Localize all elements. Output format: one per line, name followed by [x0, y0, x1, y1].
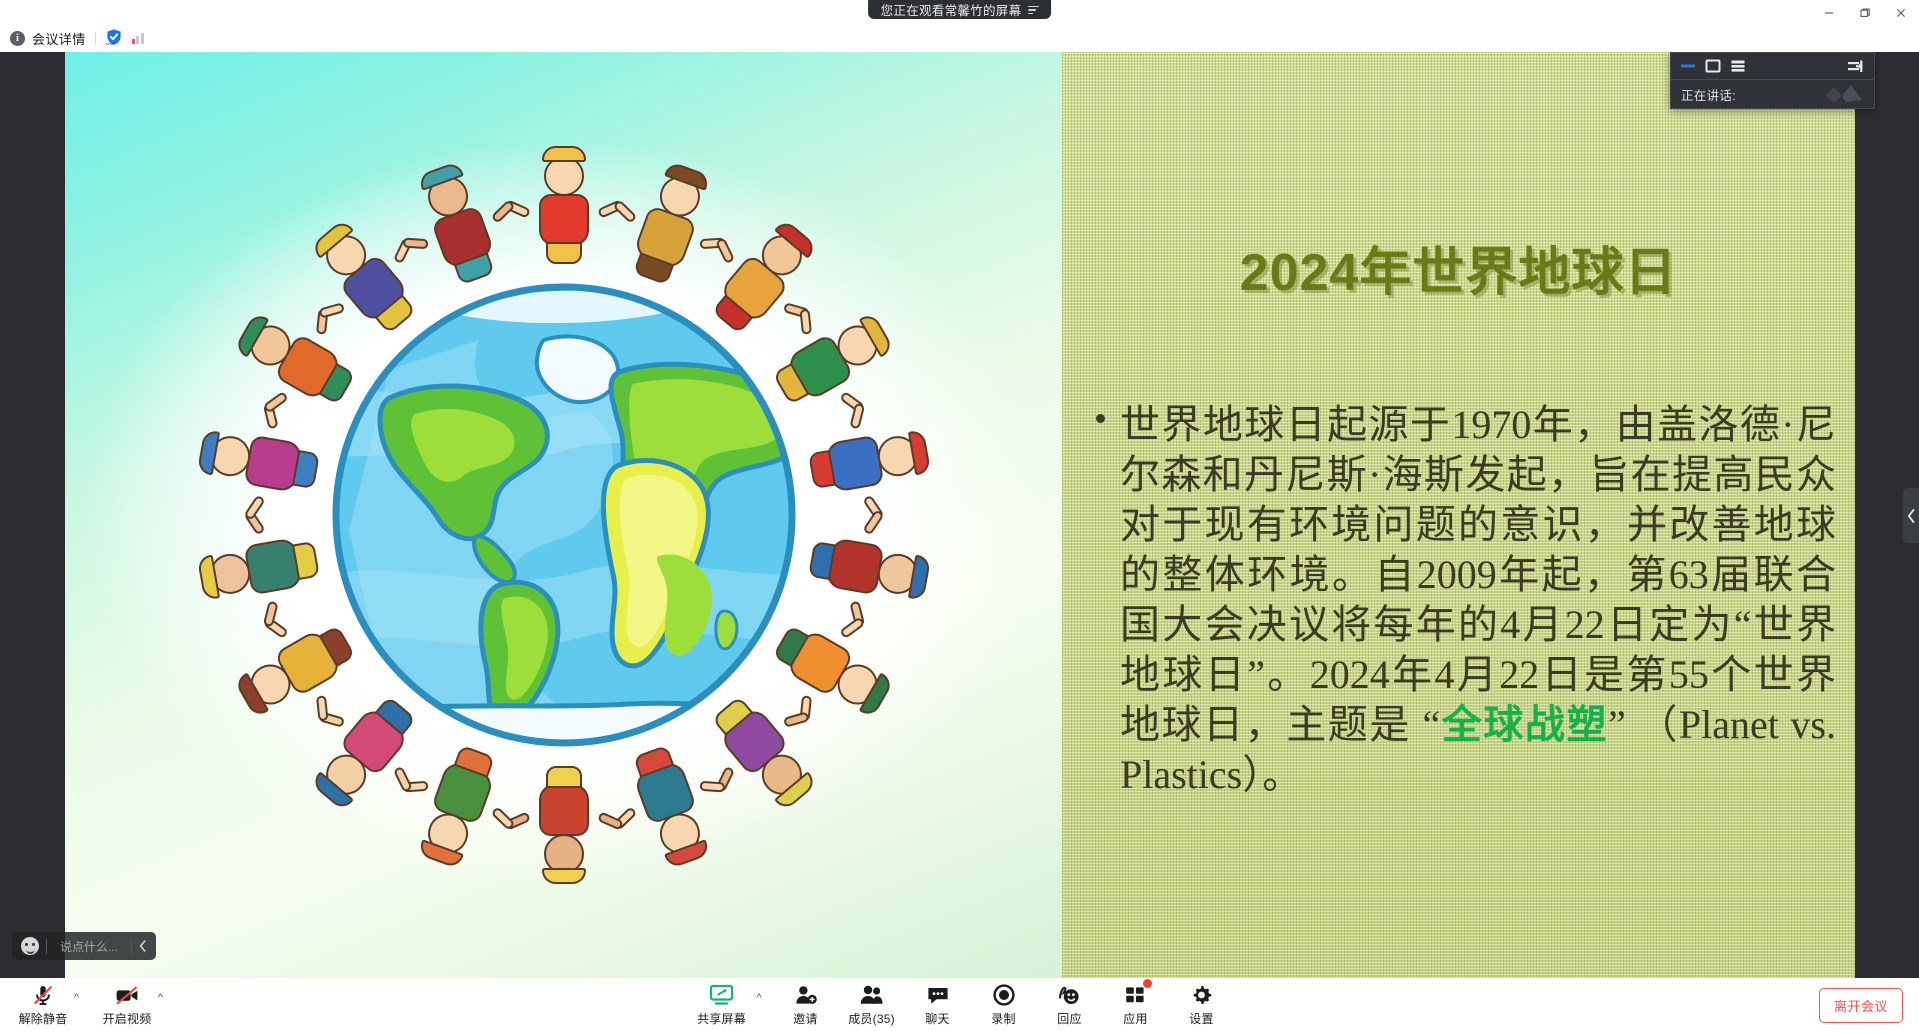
video-button[interactable]: 开启视频 — [94, 981, 160, 1029]
chat-button[interactable]: 聊天 — [905, 981, 971, 1029]
speaker-avatar-placeholder — [1822, 82, 1866, 107]
child-figure — [201, 516, 326, 620]
record-label: 录制 — [991, 1010, 1015, 1027]
share-screen-group: 共享屏幕 ^ — [685, 981, 759, 1029]
share-options-caret[interactable]: ^ — [756, 993, 761, 1004]
restore-button[interactable] — [1847, 0, 1883, 25]
reactions-icon — [1057, 984, 1082, 1007]
share-screen-icon — [709, 984, 734, 1007]
invite-person-icon — [794, 984, 818, 1007]
participants-label: 成员(35) — [848, 1010, 895, 1027]
video-label: 开启视频 — [103, 1010, 152, 1027]
child-figure — [801, 410, 926, 514]
signature-squiggle-icon: 〰 — [106, 39, 113, 50]
gear-icon — [1190, 984, 1213, 1007]
apps-button[interactable]: 应用 — [1103, 981, 1169, 1029]
apps-label: 应用 — [1123, 1010, 1147, 1027]
banner-menu-icon[interactable] — [1028, 5, 1039, 15]
meeting-details-label: 会议详情 — [32, 29, 86, 48]
title-bar: 您正在观看常馨竹的屏幕 — [0, 0, 1919, 25]
quick-chat-bar[interactable]: 说点什么... — [12, 932, 156, 960]
meeting-details-button[interactable]: i 会议详情 — [10, 29, 86, 48]
chat-collapse-icon[interactable] — [132, 932, 154, 960]
speaking-label: 正在讲话: — [1681, 85, 1736, 104]
slide-title: 2024年世界地球日 — [1062, 230, 1855, 305]
shared-screen-content[interactable]: 2024年世界地球日 世界地球日起源于1970年，由盖洛德·尼尔森和丹尼斯·海斯… — [65, 52, 1855, 978]
record-circle-icon — [992, 984, 1016, 1007]
meeting-toolbar: 解除静音 ^ 开启视频 ^ — [0, 978, 1919, 1031]
slide-body: 世界地球日起源于1970年，由盖洛德·尼尔森和丹尼斯·海斯发起，旨在提高民众对于… — [1088, 400, 1836, 800]
speaker-panel-toolbar — [1671, 53, 1874, 80]
reactions-button[interactable]: 回应 — [1037, 981, 1103, 1029]
mute-options-caret[interactable]: ^ — [74, 993, 79, 1004]
mute-group: 解除静音 ^ — [10, 981, 76, 1029]
globe-illustration — [329, 280, 799, 750]
screen-share-banner[interactable]: 您正在观看常馨竹的屏幕 — [868, 0, 1052, 19]
chat-bubble-icon — [926, 984, 950, 1007]
record-button[interactable]: 录制 — [971, 981, 1037, 1029]
maximize-icon[interactable] — [1705, 59, 1721, 73]
zoom-meeting-window: 您正在观看常馨竹的屏幕 i 会议详情 — [0, 0, 1919, 1031]
reactions-label: 回应 — [1057, 1010, 1081, 1027]
video-options-caret[interactable]: ^ — [158, 993, 163, 1004]
presentation-slide: 2024年世界地球日 世界地球日起源于1970年，由盖洛德·尼尔森和丹尼斯·海斯… — [1062, 52, 1855, 978]
list-view-icon[interactable] — [1730, 59, 1746, 73]
sidebar-collapse-handle[interactable] — [1903, 488, 1919, 543]
toolbar-left-group: 解除静音 ^ 开启视频 ^ — [0, 981, 174, 1029]
emoji-icon[interactable] — [21, 937, 39, 955]
minimize-icon[interactable] — [1680, 59, 1696, 73]
speaking-status-row: 正在讲话: — [1671, 80, 1874, 109]
child-figure — [201, 410, 326, 514]
microphone-muted-icon — [31, 984, 55, 1007]
participants-button[interactable]: 成员(35) — [839, 981, 905, 1029]
meeting-stage: 2024年世界地球日 世界地球日起源于1970年，由盖洛德·尼尔森和丹尼斯·海斯… — [0, 52, 1919, 978]
minimize-button[interactable] — [1811, 0, 1847, 25]
child-figure — [521, 154, 607, 266]
mute-label: 解除静音 — [19, 1010, 68, 1027]
settings-label: 设置 — [1189, 1010, 1213, 1027]
child-figure — [801, 516, 926, 620]
header-divider — [95, 32, 96, 45]
apps-grid-icon — [1124, 984, 1147, 1007]
info-icon: i — [10, 31, 25, 46]
bullet-point-icon — [1096, 414, 1105, 423]
meeting-header: i 会议详情 〰 — [0, 25, 1919, 52]
camera-muted-icon — [114, 984, 140, 1007]
settings-button[interactable]: 设置 — [1169, 981, 1235, 1029]
video-group: 开启视频 ^ — [94, 981, 160, 1029]
mute-button[interactable]: 解除静音 — [10, 981, 76, 1029]
network-signal-icon[interactable] — [132, 32, 144, 45]
share-screen-label: 共享屏幕 — [697, 1010, 746, 1027]
leave-meeting-button[interactable]: 离开会议 — [1819, 988, 1903, 1023]
child-figure — [521, 764, 607, 876]
toolbar-right-group: 离开会议 — [1819, 988, 1903, 1023]
share-screen-button[interactable]: 共享屏幕 — [685, 981, 759, 1029]
slide-body-part1: 世界地球日起源于1970年，由盖洛德·尼尔森和丹尼斯·海斯发起，旨在提高民众对于… — [1120, 402, 1836, 747]
earth-day-illustration — [65, 52, 1062, 978]
participants-icon — [859, 984, 885, 1007]
chat-label: 聊天 — [925, 1010, 949, 1027]
active-speaker-panel[interactable]: 正在讲话: — [1670, 52, 1875, 109]
invite-label: 邀请 — [793, 1010, 817, 1027]
invite-button[interactable]: 邀请 — [773, 981, 839, 1029]
window-controls — [1811, 0, 1919, 25]
toolbar-center-group: 共享屏幕 ^ 邀请 — [685, 981, 1235, 1029]
chat-input-placeholder[interactable]: 说点什么... — [47, 938, 131, 955]
slide-body-highlight: 全球战塑 — [1440, 702, 1608, 747]
encryption-shield-icon[interactable]: 〰 — [105, 28, 123, 50]
close-button[interactable] — [1883, 0, 1919, 25]
collapse-to-side-icon[interactable] — [1847, 59, 1865, 74]
share-banner-text: 您正在观看常馨竹的屏幕 — [881, 0, 1022, 19]
